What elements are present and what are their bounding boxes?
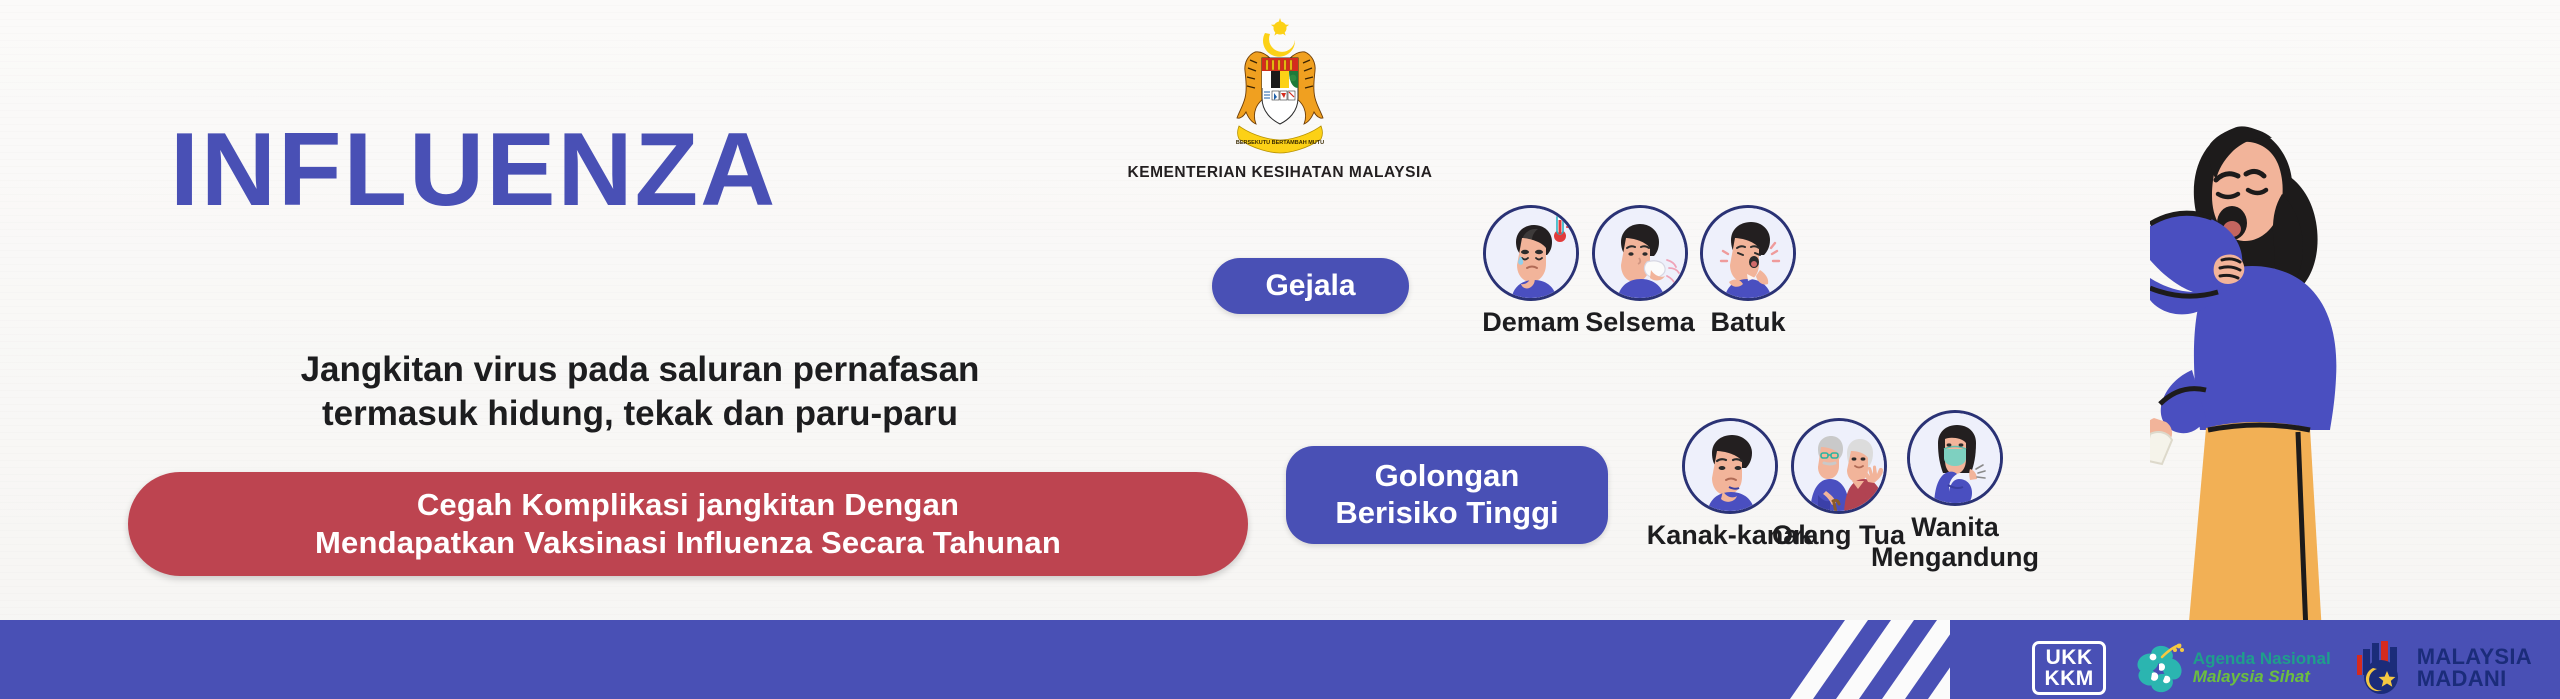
high-risk-section-pill: Golongan Berisiko Tinggi bbox=[1286, 446, 1608, 544]
callout-line-2: Mendapatkan Vaksinasi Influenza Secara T… bbox=[315, 524, 1061, 562]
agenda-nasional-malaysia-sihat-logo: Agenda Nasional Malaysia Sihat bbox=[2132, 641, 2331, 695]
footer-diagonal-stripes bbox=[1640, 620, 1950, 699]
subtitle-line-1: Jangkitan virus pada saluran pernafasan bbox=[135, 348, 1145, 392]
malaysia-coat-of-arms-icon: BERSEKUTU BERTAMBAH MUTU bbox=[1221, 8, 1339, 160]
madani-crescent-buildings-icon bbox=[2357, 641, 2409, 695]
ukk-kkm-logo: UKK KKM bbox=[2032, 641, 2105, 695]
influenza-awareness-banner: BERSEKUTU BERTAMBAH MUTU KEMENTERIAN KES… bbox=[0, 0, 2560, 699]
subtitle: Jangkitan virus pada saluran pernafasan … bbox=[135, 348, 1145, 436]
agenda-nasional-line-1: Agenda Nasional bbox=[2193, 650, 2331, 668]
malaysia-madani-line-1: MALAYSIA bbox=[2417, 646, 2532, 668]
ministry-header: BERSEKUTU BERTAMBAH MUTU KEMENTERIAN KES… bbox=[1080, 8, 1480, 182]
risk-label-wanita-line-2: Mengandung bbox=[1865, 543, 2045, 573]
hibiscus-flower-icon bbox=[2132, 641, 2186, 695]
risk-item-wanita-mengandung: Wanita Mengandung bbox=[1865, 410, 2045, 572]
malaysia-madani-logo: MALAYSIA MADANI bbox=[2357, 641, 2532, 695]
symptom-label-batuk: Batuk bbox=[1668, 308, 1828, 338]
woman-coughing-into-elbow-illustration bbox=[2150, 88, 2560, 633]
high-risk-pill-label-line-1: Golongan bbox=[1375, 458, 1520, 495]
subtitle-line-2: termasuk hidung, tekak dan paru-paru bbox=[135, 392, 1145, 436]
footer-logos: UKK KKM bbox=[2032, 641, 2532, 695]
vaccination-callout-banner: Cegah Komplikasi jangkitan Dengan Mendap… bbox=[128, 472, 1248, 576]
ministry-name: KEMENTERIAN KESIHATAN MALAYSIA bbox=[1080, 164, 1480, 182]
symptoms-section-pill: Gejala bbox=[1212, 258, 1409, 314]
risk-label-wanita-mengandung: Wanita Mengandung bbox=[1865, 513, 2045, 572]
malaysia-madani-line-2: MADANI bbox=[2417, 668, 2532, 690]
high-risk-pill-label-line-2: Berisiko Tinggi bbox=[1335, 495, 1558, 532]
agenda-nasional-line-2: Malaysia Sihat bbox=[2193, 668, 2331, 686]
coughing-person-icon bbox=[1700, 205, 1796, 301]
callout-line-1: Cegah Komplikasi jangkitan Dengan bbox=[417, 486, 959, 524]
symptom-item-batuk: Batuk bbox=[1668, 205, 1828, 338]
crest-motto-text: BERSEKUTU BERTAMBAH MUTU bbox=[1236, 140, 1324, 146]
pregnant-woman-vaccine-icon bbox=[1907, 410, 2003, 506]
risk-label-wanita-line-1: Wanita bbox=[1865, 513, 2045, 543]
ukk-kkm-line-1: UKK bbox=[2044, 647, 2093, 668]
symptoms-pill-label: Gejala bbox=[1265, 268, 1355, 303]
page-title: INFLUENZA bbox=[170, 118, 777, 222]
ukk-kkm-line-2: KKM bbox=[2044, 668, 2093, 689]
footer-bar: UKK KKM bbox=[0, 620, 2560, 699]
